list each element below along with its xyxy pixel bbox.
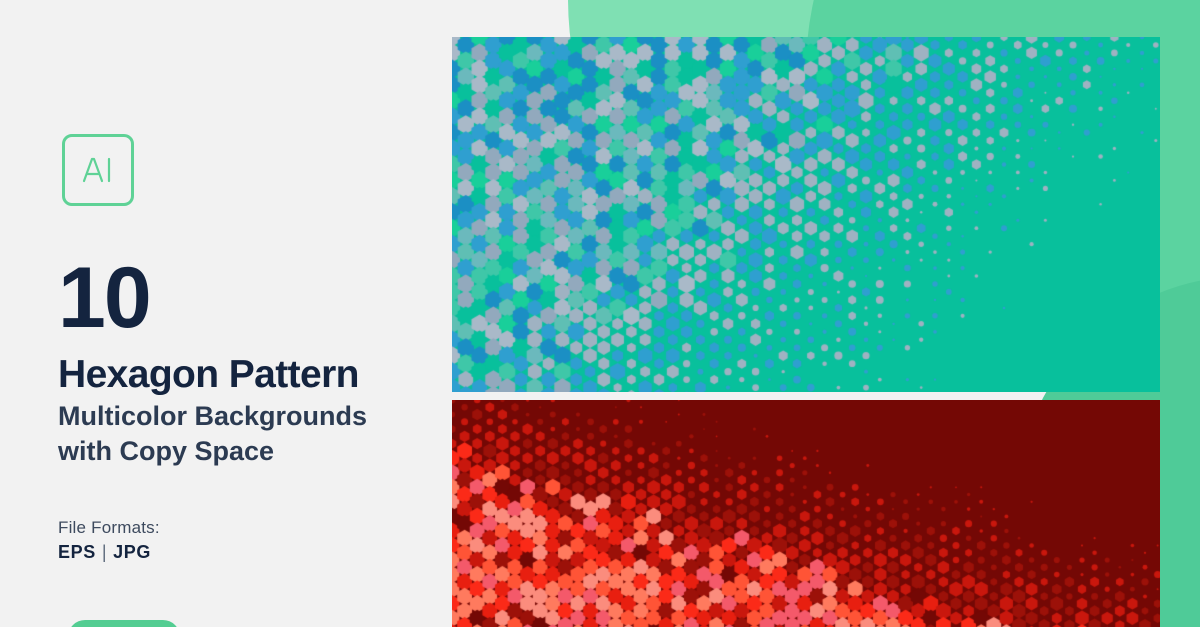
format-separator: | bbox=[96, 542, 113, 562]
format-eps: EPS bbox=[58, 542, 96, 562]
format-jpg: JPG bbox=[113, 542, 151, 562]
page-subtitle-line-2: with Copy Space bbox=[58, 434, 458, 469]
file-formats-value: EPS|JPG bbox=[58, 542, 151, 563]
page-title: Hexagon Pattern bbox=[58, 355, 359, 396]
red-hexagon-pattern bbox=[452, 400, 1160, 627]
info-column: 10 Hexagon Pattern Multicolor Background… bbox=[0, 0, 452, 627]
file-formats-label: File Formats: bbox=[58, 518, 160, 538]
teal-hexagon-preview[interactable] bbox=[452, 37, 1160, 392]
teal-hexagon-pattern bbox=[452, 37, 1160, 392]
red-hexagon-preview[interactable] bbox=[452, 400, 1160, 627]
ai-format-badge bbox=[62, 134, 134, 206]
ai-letters-icon bbox=[78, 150, 118, 190]
product-preview-canvas: 10 Hexagon Pattern Multicolor Background… bbox=[0, 0, 1200, 627]
page-subtitle: Multicolor Backgrounds with Copy Space bbox=[58, 399, 458, 468]
item-count: 10 bbox=[58, 255, 150, 341]
page-subtitle-line-1: Multicolor Backgrounds bbox=[58, 399, 458, 434]
cta-button[interactable] bbox=[68, 620, 180, 627]
